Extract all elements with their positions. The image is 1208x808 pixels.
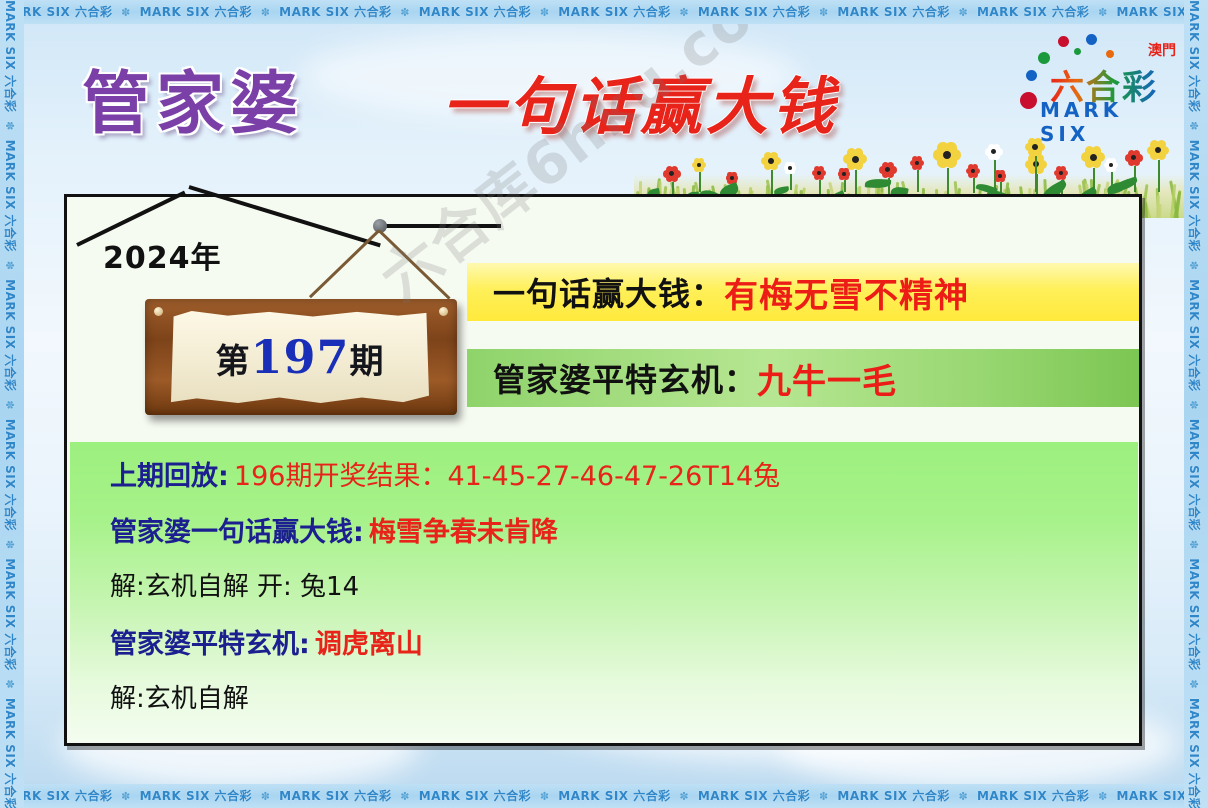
border-strip-right: MARK SIX 六合彩 ✽ MARK SIX 六合彩 ✽ MARK SIX 六… [1184, 0, 1208, 808]
content-line-last-draw: 上期回放: 196期开奖结果：41-45-27-46-47-26T14兔 [110, 454, 780, 493]
issue-suffix: 期 [350, 342, 385, 382]
screw-icon [154, 307, 163, 316]
hanging-sign: 2024年 第197期 [67, 191, 487, 439]
logo-dot [1038, 52, 1050, 64]
tip-answer-text: 解:玄机自解 [110, 684, 249, 714]
slogan-value: 梅雪争春未肯降 [369, 517, 558, 548]
banner-label: 管家婆平特玄机： [493, 355, 757, 401]
logo-dot [1058, 36, 1069, 47]
poster-header: 管家婆 一句话赢大钱 澳門 六合彩 MARK SIX [24, 24, 1184, 194]
tip-value: 调虎离山 [315, 629, 423, 660]
banner-value: 有梅无雪不精神 [724, 268, 969, 317]
issue-number-text: 第197期 [215, 330, 384, 384]
issue-number: 197 [250, 330, 349, 384]
logo-dot [1020, 92, 1037, 109]
content-line-tip-answer: 解:玄机自解 [110, 678, 249, 715]
mark-six-logo: 澳門 六合彩 MARK SIX [1018, 34, 1178, 126]
border-strip-bottom: MARK SIX 六合彩 ✽ MARK SIX 六合彩 ✽ MARK SIX 六… [0, 784, 1208, 808]
screw-icon [439, 307, 448, 316]
banner-value: 九牛一毛 [757, 354, 897, 403]
wooden-plaque: 第197期 [145, 299, 457, 415]
brand-title: 管家婆 [82, 48, 304, 147]
year-label: 2024年 [103, 233, 222, 277]
poster-inner: 管家婆 一句话赢大钱 澳門 六合彩 MARK SIX [24, 24, 1184, 784]
content-line-tip: 管家婆平特玄机: 调虎离山 [110, 622, 423, 661]
poster-canvas: MARK SIX 六合彩 ✽ MARK SIX 六合彩 ✽ MARK SIX 六… [0, 0, 1208, 808]
logo-dot [1074, 48, 1081, 55]
slogan-label: 管家婆一句话赢大钱: [110, 517, 364, 548]
banner-rows: 一句话赢大钱： 有梅无雪不精神 管家婆平特玄机： 九牛一毛 [467, 203, 1139, 369]
banner-label: 一句话赢大钱： [493, 269, 724, 315]
plaque-paper: 第197期 [171, 311, 429, 403]
logo-macau-label: 澳門 [1148, 40, 1176, 60]
logo-dot [1106, 50, 1114, 58]
main-frame: 2024年 第197期 一句话赢大钱： 有梅无雪不精神 [64, 194, 1142, 746]
rope [309, 229, 380, 298]
content-line-slogan-answer: 解:玄机自解 开: 兔14 [110, 566, 359, 603]
last-draw-label: 上期回放: [110, 461, 229, 492]
banner-row-tip: 管家婆平特玄机： 九牛一毛 [467, 349, 1139, 407]
last-draw-value: 196期开奖结果：41-45-27-46-47-26T14兔 [234, 461, 780, 492]
border-strip-left: MARK SIX 六合彩 ✽ MARK SIX 六合彩 ✽ MARK SIX 六… [0, 0, 24, 808]
rope [378, 229, 451, 299]
logo-dot [1026, 70, 1037, 81]
tip-label: 管家婆平特玄机: [110, 629, 310, 660]
border-strip-top: MARK SIX 六合彩 ✽ MARK SIX 六合彩 ✽ MARK SIX 六… [0, 0, 1208, 24]
issue-prefix: 第 [215, 342, 250, 382]
logo-dot [1086, 34, 1097, 45]
content-line-slogan: 管家婆一句话赢大钱: 梅雪争春未肯降 [110, 510, 558, 549]
content-body: 上期回放: 196期开奖结果：41-45-27-46-47-26T14兔 管家婆… [70, 442, 1138, 742]
slogan-answer-text: 解:玄机自解 开: 兔14 [110, 572, 359, 602]
banner-row-slogan: 一句话赢大钱： 有梅无雪不精神 [467, 263, 1139, 321]
